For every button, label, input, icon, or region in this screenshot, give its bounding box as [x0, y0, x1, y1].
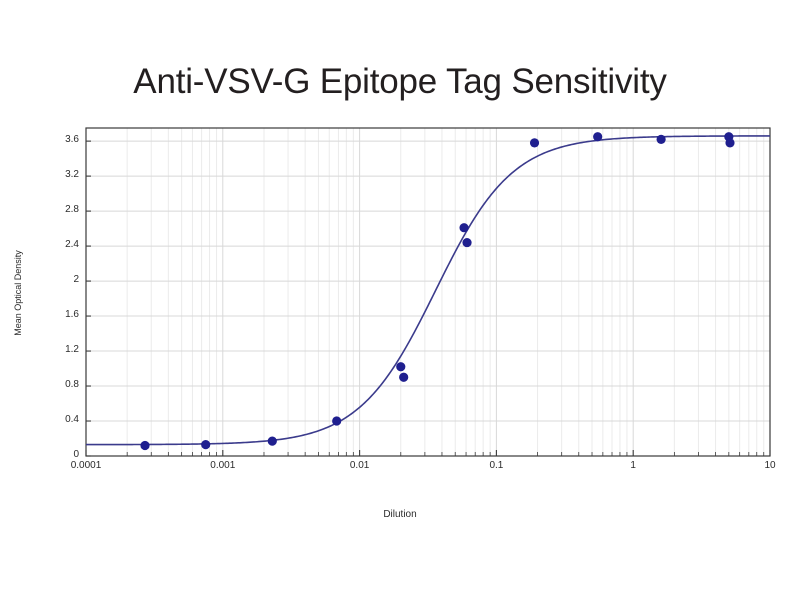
y-tick-label: 1.6: [39, 309, 79, 320]
plot-canvas: [0, 0, 800, 600]
data-point: [399, 373, 408, 382]
y-tick-label: 0.4: [39, 414, 79, 425]
data-point: [332, 416, 341, 425]
y-tick-label: 2.8: [39, 204, 79, 215]
x-tick-label: 1: [603, 460, 663, 471]
chart-figure: Anti-VSV-G Epitope Tag Sensitivity Mean …: [0, 0, 800, 600]
axis-tickmarks: [86, 141, 770, 456]
data-point: [593, 132, 602, 141]
data-point: [140, 441, 149, 450]
data-point: [725, 138, 734, 147]
x-tick-label: 0.1: [466, 460, 526, 471]
x-tick-label: 0.01: [330, 460, 390, 471]
x-tick-label: 0.001: [193, 460, 253, 471]
y-tick-label: 1.2: [39, 344, 79, 355]
data-point: [396, 362, 405, 371]
data-point: [462, 238, 471, 247]
data-point: [268, 437, 277, 446]
y-tick-label: 0.8: [39, 379, 79, 390]
plot-frame: [86, 128, 770, 456]
major-vertical-gridlines: [86, 128, 770, 456]
y-tick-label: 0: [39, 449, 79, 460]
data-point: [459, 223, 468, 232]
y-tick-label: 3.2: [39, 169, 79, 180]
y-tick-label: 2: [39, 274, 79, 285]
x-tick-label: 0.0001: [56, 460, 116, 471]
data-point-group: [140, 132, 734, 450]
y-tick-label: 2.4: [39, 239, 79, 250]
y-tick-label: 3.6: [39, 134, 79, 145]
major-horizontal-gridlines: [86, 141, 770, 421]
data-point: [657, 135, 666, 144]
data-point: [201, 440, 210, 449]
fitted-curve: [86, 136, 770, 445]
data-point: [530, 138, 539, 147]
x-tick-label: 10: [740, 460, 800, 471]
